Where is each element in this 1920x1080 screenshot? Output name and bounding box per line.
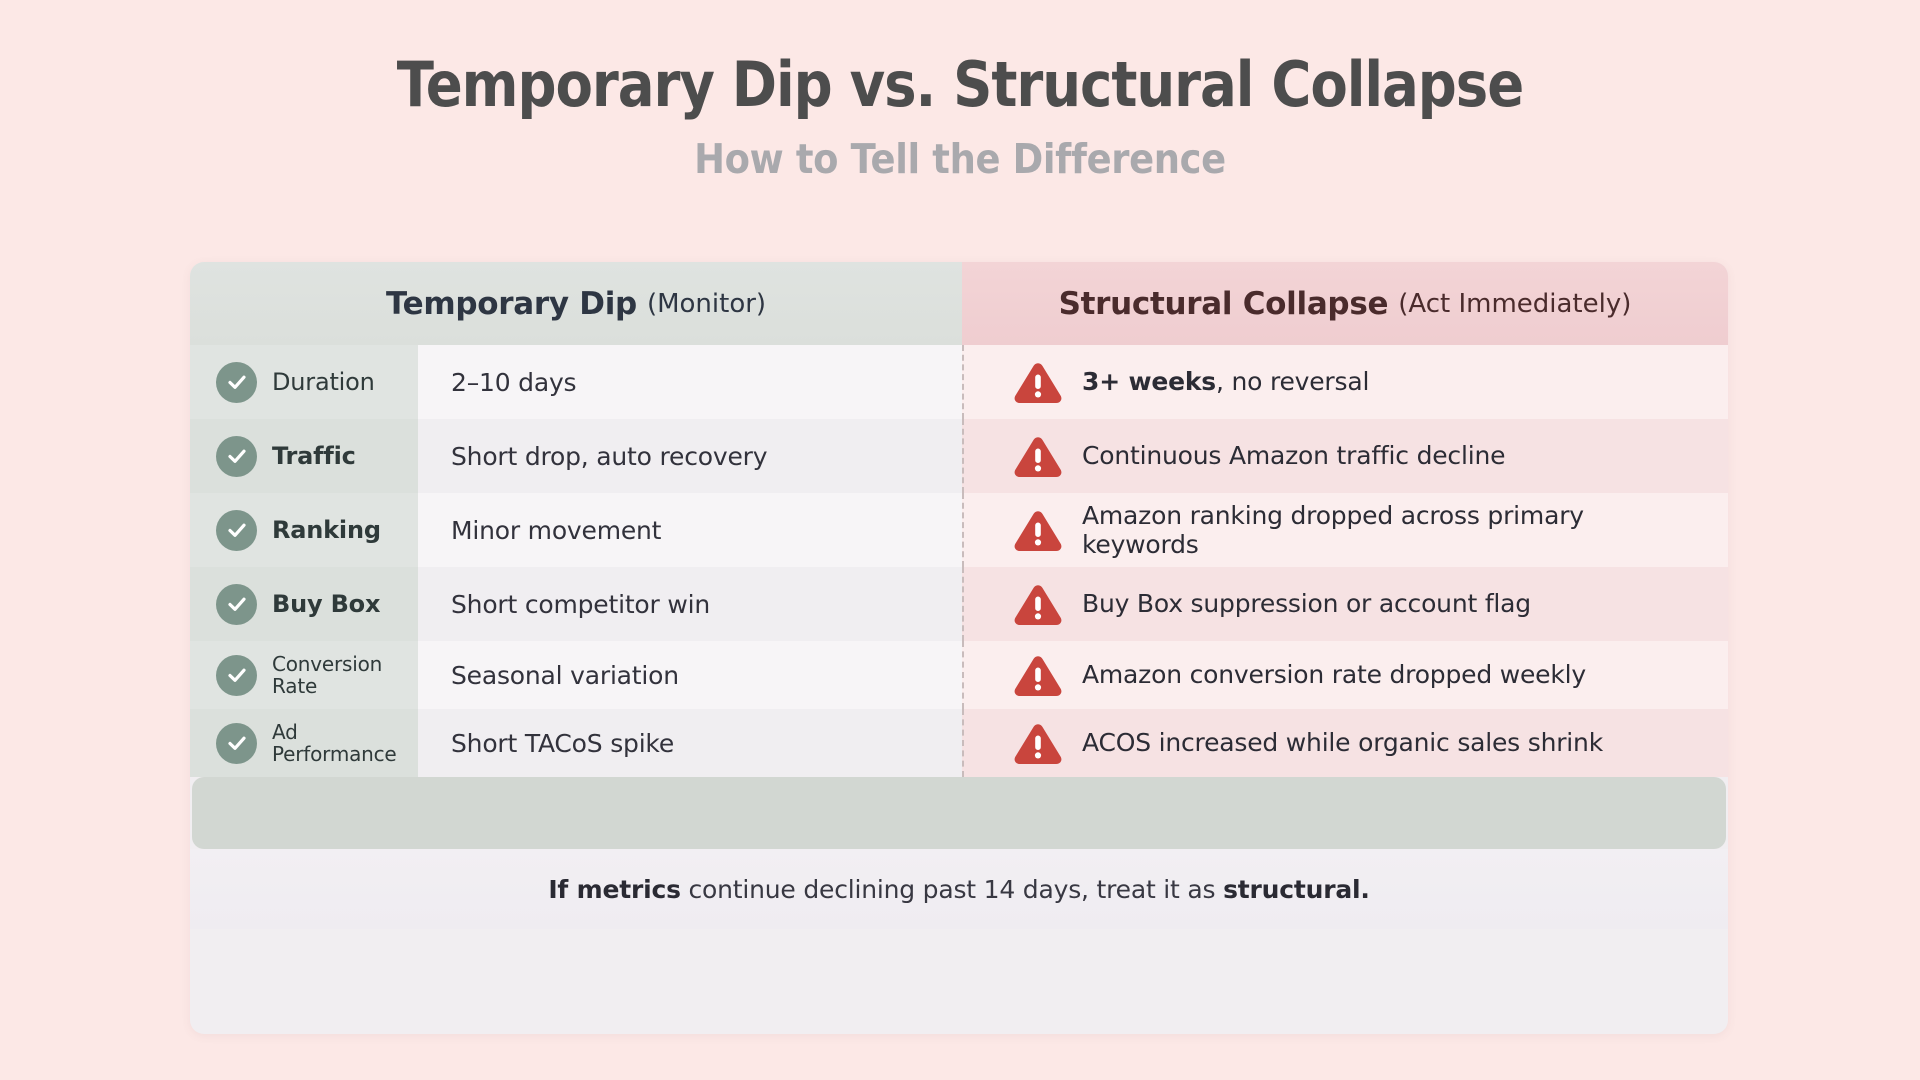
row-temporary-dip-text: Short competitor win — [451, 590, 710, 619]
title-block: Temporary Dip vs. Structural Collapse Ho… — [0, 52, 1920, 183]
row-structural-collapse-cell: Buy Box suppression or account flag — [962, 567, 1728, 641]
footer-note-lead: If metrics — [548, 875, 680, 904]
blank-band-wrap — [190, 777, 1728, 849]
check-circle-icon — [216, 655, 257, 696]
row-metric-label: Ranking — [272, 517, 381, 544]
warning-triangle-icon — [1012, 507, 1064, 553]
table-row: Duration2–10 days3+ weeks, no reversal — [190, 345, 1728, 419]
blank-separator-band — [192, 777, 1726, 849]
row-structural-collapse-cell: Continuous Amazon traffic decline — [962, 419, 1728, 493]
table-body: Duration2–10 days3+ weeks, no reversalTr… — [190, 345, 1728, 777]
row-temporary-dip-cell: Short competitor win — [418, 567, 962, 641]
table-row: TrafficShort drop, auto recoveryContinuo… — [190, 419, 1728, 493]
row-temporary-dip-cell: Seasonal variation — [418, 641, 962, 709]
row-metric-label: AdPerformance — [272, 721, 397, 766]
row-structural-collapse-cell: Amazon ranking dropped across primary ke… — [962, 493, 1728, 567]
table-row: ConversionRateSeasonal variationAmazon c… — [190, 641, 1728, 709]
row-structural-collapse-text: ACOS increased while organic sales shrin… — [1082, 728, 1603, 758]
check-circle-icon — [216, 510, 257, 551]
row-structural-collapse-text: 3+ weeks, no reversal — [1082, 367, 1369, 397]
column-header-structural-collapse-qualifier: (Act Immediately) — [1398, 289, 1631, 319]
row-metric-label: Traffic — [272, 443, 356, 470]
column-header-structural-collapse: Structural Collapse (Act Immediately) — [962, 262, 1728, 345]
warning-triangle-icon — [1012, 652, 1064, 698]
row-metric-label: Duration — [272, 369, 375, 396]
page-subtitle: How to Tell the Difference — [96, 135, 1824, 183]
check-circle-icon — [216, 723, 257, 764]
row-metric-cell: AdPerformance — [190, 709, 418, 777]
warning-triangle-icon — [1012, 359, 1064, 405]
warning-triangle-icon — [1012, 433, 1064, 479]
table-row: AdPerformanceShort TACoS spikeACOS incre… — [190, 709, 1728, 777]
row-temporary-dip-cell: Short drop, auto recovery — [418, 419, 962, 493]
row-structural-collapse-cell: Amazon conversion rate dropped weekly — [962, 641, 1728, 709]
page-title: Temporary Dip vs. Structural Collapse — [115, 52, 1805, 119]
row-metric-cell: Traffic — [190, 419, 418, 493]
row-temporary-dip-cell: Short TACoS spike — [418, 709, 962, 777]
check-circle-icon — [216, 436, 257, 477]
comparison-table-card: Temporary Dip (Monitor) Structural Colla… — [190, 262, 1728, 1034]
row-structural-collapse-cell: 3+ weeks, no reversal — [962, 345, 1728, 419]
table-header-row: Temporary Dip (Monitor) Structural Colla… — [190, 262, 1728, 345]
row-structural-collapse-text: Amazon ranking dropped across primary ke… — [1082, 501, 1704, 560]
column-header-temporary-dip-qualifier: (Monitor) — [647, 289, 766, 319]
row-temporary-dip-text: Seasonal variation — [451, 661, 679, 690]
row-metric-cell: Duration — [190, 345, 418, 419]
row-temporary-dip-cell: Minor movement — [418, 493, 962, 567]
row-metric-cell: ConversionRate — [190, 641, 418, 709]
row-structural-collapse-cell: ACOS increased while organic sales shrin… — [962, 709, 1728, 777]
footer-note-middle: continue declining past 14 days, treat i… — [681, 875, 1223, 904]
row-temporary-dip-cell: 2–10 days — [418, 345, 962, 419]
row-metric-label: Buy Box — [272, 591, 380, 618]
row-metric-cell: Ranking — [190, 493, 418, 567]
row-metric-label: ConversionRate — [272, 653, 382, 698]
infographic-page: Temporary Dip vs. Structural Collapse Ho… — [0, 0, 1920, 1080]
row-structural-collapse-text: Buy Box suppression or account flag — [1082, 589, 1531, 619]
row-structural-collapse-text: Continuous Amazon traffic decline — [1082, 441, 1505, 471]
row-temporary-dip-text: Short drop, auto recovery — [451, 442, 767, 471]
footer-note-tail: structural. — [1223, 875, 1370, 904]
row-metric-cell: Buy Box — [190, 567, 418, 641]
row-temporary-dip-text: 2–10 days — [451, 368, 576, 397]
row-temporary-dip-text: Short TACoS spike — [451, 729, 674, 758]
warning-triangle-icon — [1012, 720, 1064, 766]
check-circle-icon — [216, 584, 257, 625]
check-circle-icon — [216, 362, 257, 403]
column-header-structural-collapse-title: Structural Collapse — [1059, 286, 1389, 322]
column-header-temporary-dip: Temporary Dip (Monitor) — [190, 262, 962, 345]
table-footer: If metrics continue declining past 14 da… — [190, 849, 1728, 929]
footer-note: If metrics continue declining past 14 da… — [548, 875, 1369, 904]
table-row: RankingMinor movementAmazon ranking drop… — [190, 493, 1728, 567]
row-temporary-dip-text: Minor movement — [451, 516, 661, 545]
column-header-temporary-dip-title: Temporary Dip — [386, 286, 637, 322]
warning-triangle-icon — [1012, 581, 1064, 627]
row-structural-collapse-text: Amazon conversion rate dropped weekly — [1082, 660, 1586, 690]
table-row: Buy BoxShort competitor winBuy Box suppr… — [190, 567, 1728, 641]
